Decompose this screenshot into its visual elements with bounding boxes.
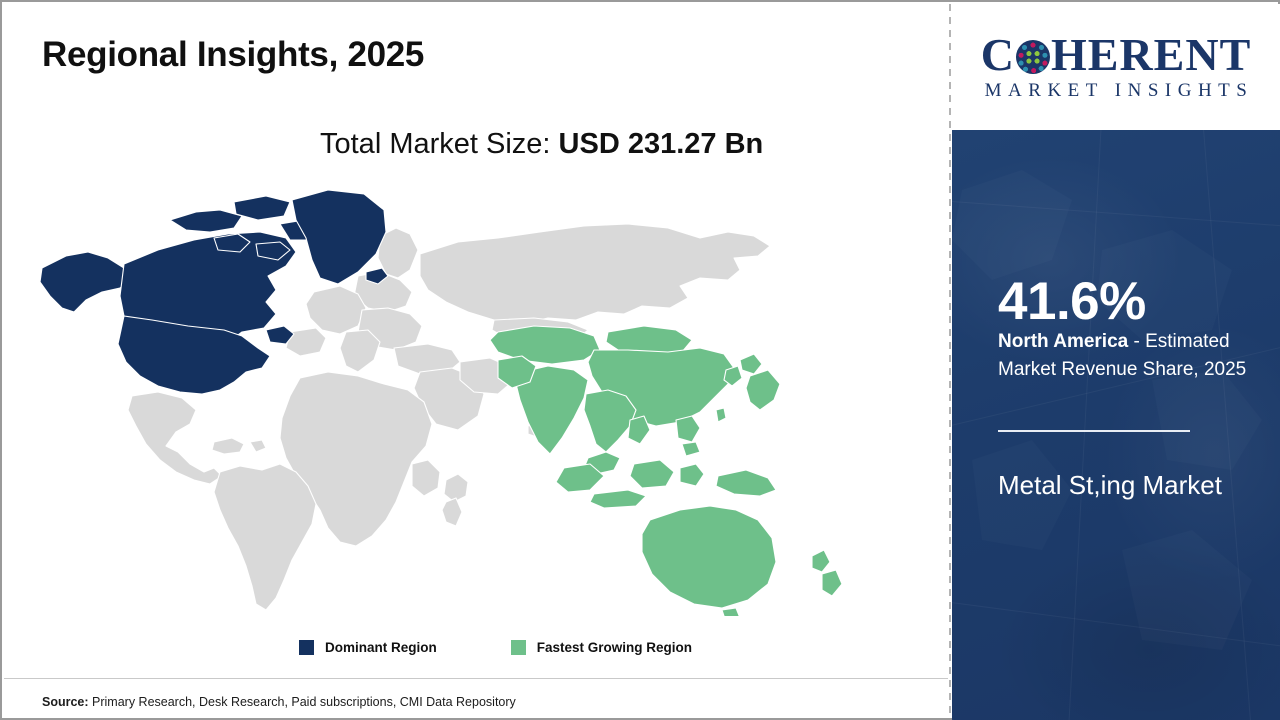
logo-subtitle: MARKET INSIGHTS	[966, 80, 1266, 102]
right-column: C HERENT MARKET INSIGHTS	[952, 4, 1280, 720]
stat-percentage: 41.6%	[998, 275, 1146, 328]
logo-wordmark: C HERENT	[966, 32, 1266, 78]
market-size-value: USD 231.27 Bn	[559, 128, 764, 160]
legend-item-fastest-growing: Fastest Growing Region	[511, 640, 692, 655]
source-label: Source:	[42, 695, 89, 709]
market-size-label: Total Market Size:	[320, 128, 559, 160]
page-title: Regional Insights, 2025	[42, 35, 424, 75]
navy-swatch-icon	[299, 640, 314, 655]
source-divider	[4, 678, 948, 679]
total-market-size: Total Market Size: USD 231.27 Bn	[320, 128, 763, 161]
stat-divider	[998, 430, 1190, 432]
vertical-divider	[949, 4, 951, 718]
stat-description: North America - Estimated Market Revenue…	[998, 328, 1266, 384]
panel-texture	[952, 130, 1280, 720]
logo-letter-c: C	[981, 32, 1015, 78]
stat-panel: 41.6% North America - Estimated Market R…	[952, 130, 1280, 720]
market-name: Metal St,ing Market	[998, 468, 1260, 503]
infographic-slide: Regional Insights, 2025 Total Market Siz…	[0, 0, 1280, 720]
source-note: Source: Primary Research, Desk Research,…	[42, 695, 516, 709]
logo-word-herent: HERENT	[1051, 32, 1251, 78]
legend-label-dominant: Dominant Region	[325, 640, 437, 655]
world-map	[28, 180, 908, 616]
brand-logo: C HERENT MARKET INSIGHTS	[952, 4, 1280, 130]
stat-region-name: North America	[998, 331, 1128, 352]
map-region-asia-pacific-fastest-growing	[490, 326, 842, 616]
legend-item-dominant: Dominant Region	[299, 640, 437, 655]
green-swatch-icon	[511, 640, 526, 655]
dotted-globe-icon	[1016, 40, 1050, 74]
left-panel: Regional Insights, 2025 Total Market Siz…	[2, 2, 950, 718]
map-legend: Dominant Region Fastest Growing Region	[299, 640, 692, 655]
world-map-svg	[28, 180, 908, 616]
source-text: Primary Research, Desk Research, Paid su…	[89, 695, 516, 709]
legend-label-fastest-growing: Fastest Growing Region	[537, 640, 692, 655]
